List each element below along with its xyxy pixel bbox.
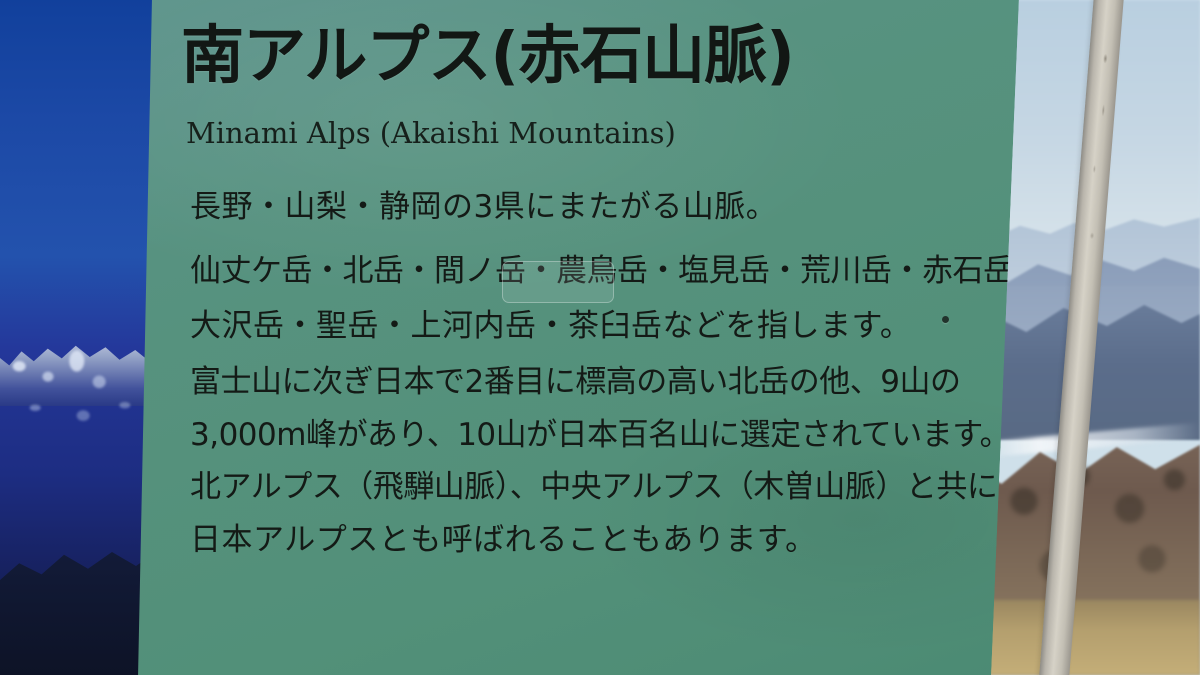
body-line-1: 長野・山梨・静岡の3県にまたがる山脈。 (190, 192, 777, 223)
sign-content: 南アルプス(赤石山脈) Minami Alps (Akaishi Mountai… (0, 0, 1030, 675)
body-line-6: 北アルプス（飛騨山脈）、中央アルプス（木曽山脈）と共に (190, 472, 997, 503)
body-line-4: 富士山に次ぎ日本で2番目に標高の高い北岳の他、9山の (190, 367, 960, 398)
body-line-7: 日本アルプスとも呼ばれることもあります。 (190, 525, 817, 556)
information-sign-board: 南アルプス(赤石山脈) Minami Alps (Akaishi Mountai… (0, 0, 1030, 675)
page-title-japanese: 南アルプス(赤石山脈) (181, 24, 794, 87)
photo-scene: 南アルプス(赤石山脈) Minami Alps (Akaishi Mountai… (0, 0, 1200, 675)
page-title-english: Minami Alps (Akaishi Mountains) (186, 116, 676, 150)
body-line-2: 仙丈ケ岳・北岳・間ノ岳・農鳥岳・塩見岳・荒川岳・赤石岳・ (190, 256, 1044, 287)
body-line-5: 3,000m峰があり、10山が日本百名山に選定されています。 (190, 420, 1010, 451)
body-line-3: 大沢岳・聖岳・上河内岳・茶臼岳などを指します。 (190, 311, 911, 342)
